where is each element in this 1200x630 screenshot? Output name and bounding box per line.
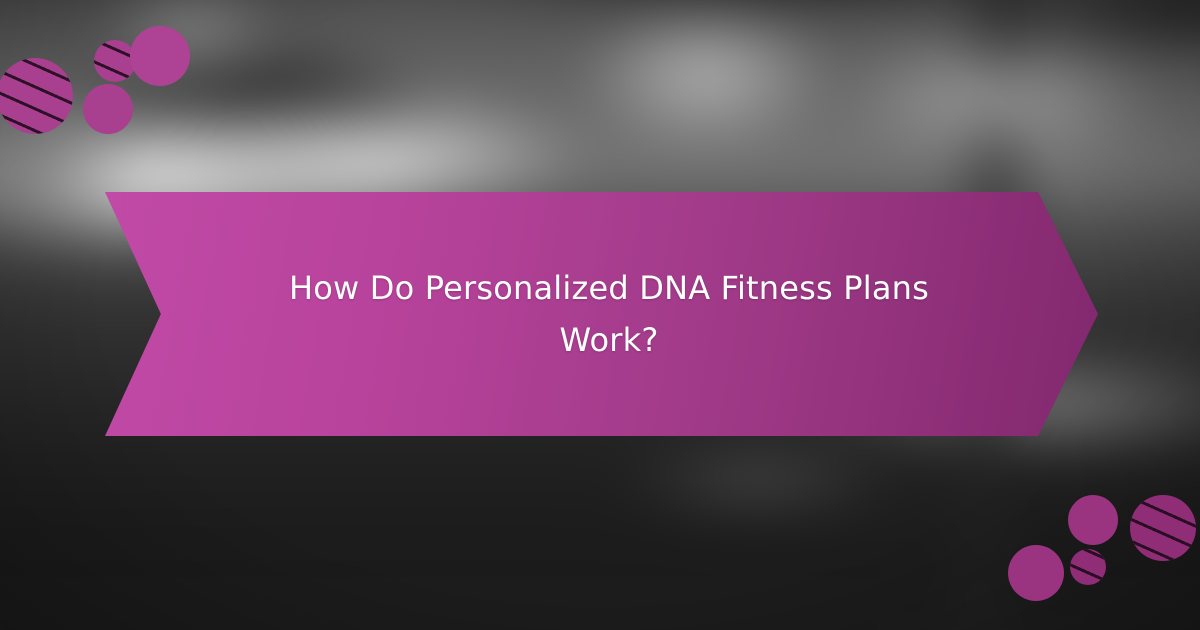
article-hero-card: How Do Personalized DNA Fitness Plans Wo…	[0, 0, 1200, 630]
page-title: How Do Personalized DNA Fitness Plans Wo…	[259, 262, 959, 366]
circle-large-plain	[130, 26, 190, 86]
circle-medium-plain	[1068, 495, 1118, 545]
circle-small-striped	[1070, 549, 1106, 585]
circle-large-striped	[0, 58, 73, 134]
title-banner: How Do Personalized DNA Fitness Plans Wo…	[100, 192, 1098, 436]
circle-medium-plain	[83, 84, 133, 134]
circle-large-plain	[1008, 545, 1064, 601]
circle-large-striped	[1130, 495, 1196, 561]
